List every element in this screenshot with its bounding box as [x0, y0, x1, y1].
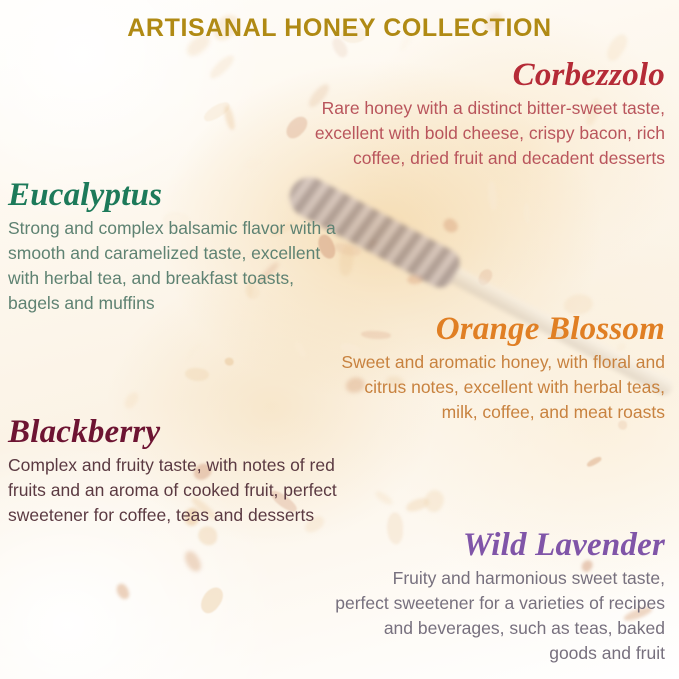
variety-name-eucalyptus: Eucalyptus — [8, 178, 348, 214]
nut-flake — [115, 582, 131, 601]
variety-block-orange-blossom: Orange Blossom Sweet and aromatic honey,… — [335, 312, 665, 425]
variety-block-wild-lavender: Wild Lavender Fruity and harmonious swee… — [335, 528, 665, 666]
nut-flake — [198, 526, 218, 545]
variety-description-blackberry: Complex and fruity taste, with notes of … — [8, 453, 338, 528]
nut-flake — [123, 390, 142, 410]
nut-flake — [441, 216, 460, 236]
variety-description-corbezzolo: Rare honey with a distinct bitter-sweet … — [301, 96, 665, 171]
nut-flake — [196, 583, 227, 616]
nut-flake — [404, 495, 430, 513]
nut-flake — [223, 105, 236, 131]
nut-flake — [586, 455, 603, 467]
nut-flake — [488, 181, 498, 211]
variety-name-corbezzolo: Corbezzolo — [301, 58, 665, 94]
nut-flake — [523, 204, 530, 224]
variety-block-blackberry: Blackberry Complex and fruity taste, wit… — [8, 415, 338, 528]
variety-name-blackberry: Blackberry — [8, 415, 338, 451]
variety-name-wild-lavender: Wild Lavender — [335, 528, 665, 564]
variety-description-eucalyptus: Strong and complex balsamic flavor with … — [8, 216, 348, 316]
nut-flake — [183, 340, 204, 362]
variety-block-corbezzolo: Corbezzolo Rare honey with a distinct bi… — [301, 58, 665, 171]
nut-flake — [224, 357, 233, 365]
nut-flake — [201, 100, 232, 125]
variety-description-wild-lavender: Fruity and harmonious sweet taste, perfe… — [335, 566, 665, 666]
nut-flake — [206, 52, 237, 81]
variety-name-orange-blossom: Orange Blossom — [335, 312, 665, 348]
nut-flake — [293, 340, 307, 358]
nut-flake — [243, 156, 264, 172]
variety-block-eucalyptus: Eucalyptus Strong and complex balsamic f… — [8, 178, 348, 316]
nut-flake — [185, 367, 210, 383]
variety-description-orange-blossom: Sweet and aromatic honey, with floral an… — [335, 350, 665, 425]
page-title: ARTISANAL HONEY COLLECTION — [0, 14, 679, 43]
nut-flake — [183, 549, 204, 574]
nut-flake — [420, 486, 447, 514]
nut-flake — [374, 489, 395, 507]
honey-collection-poster: ARTISANAL HONEY COLLECTION Corbezzolo Ra… — [0, 0, 679, 679]
